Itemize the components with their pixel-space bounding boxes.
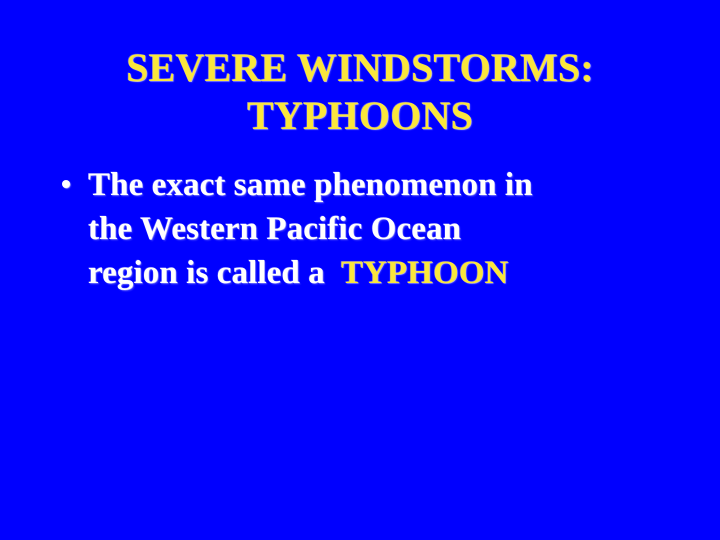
bullet-text-line-3-gap xyxy=(325,255,341,291)
bullet-list-item: The exact same phenomenon in the Western… xyxy=(60,163,660,295)
keyword-typhoon: TYPHOON xyxy=(341,255,509,291)
title-line-2: TYPHOONS xyxy=(0,92,720,140)
title-line-1: SEVERE WINDSTORMS: xyxy=(0,44,720,92)
bullet-text: The exact same phenomenon in the Western… xyxy=(60,163,660,295)
bullet-text-line-3: region is called a TYPHOON xyxy=(88,251,660,295)
slide-title: SEVERE WINDSTORMS: TYPHOONS xyxy=(0,44,720,140)
bullet-text-line-2: the Western Pacific Ocean xyxy=(88,207,660,251)
bullet-text-line-3-prefix: region is called a xyxy=(88,255,325,291)
presentation-slide: SEVERE WINDSTORMS: TYPHOONS The exact sa… xyxy=(0,0,720,540)
slide-body: The exact same phenomenon in the Western… xyxy=(60,163,660,295)
bullet-dot-icon xyxy=(62,180,70,188)
bullet-text-line-1: The exact same phenomenon in xyxy=(88,163,660,207)
